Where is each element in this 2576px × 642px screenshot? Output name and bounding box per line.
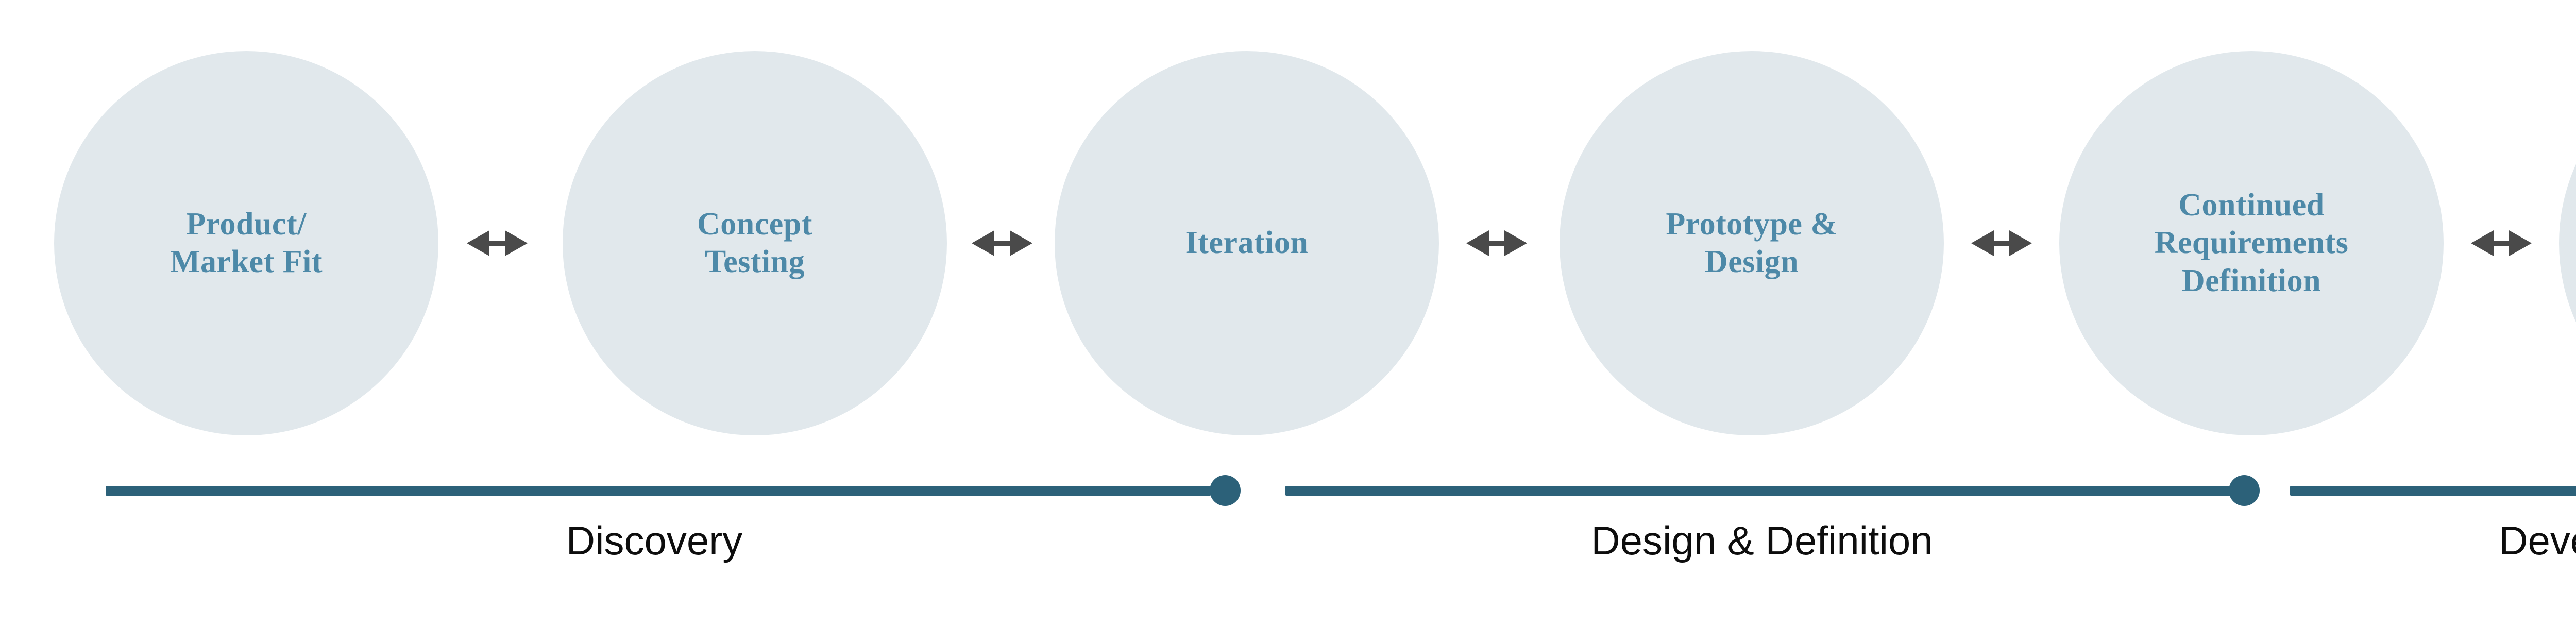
double-arrow-icon bbox=[2471, 223, 2532, 263]
double-arrow-icon bbox=[972, 223, 1032, 263]
process-diagram: Product/ Market Fit Concept Testing Iter… bbox=[0, 0, 2576, 642]
stage-circle-iteration[interactable]: Iteration bbox=[1055, 51, 1439, 435]
phase-endpoint-dot-icon bbox=[2229, 475, 2260, 506]
phase-bar-design-definition bbox=[1285, 486, 2231, 496]
phase-bar-development bbox=[2290, 486, 2576, 496]
stage-circle-continued-requirements-definition[interactable]: Continued Requirements Definition bbox=[2059, 51, 2444, 435]
stage-circle-concept-testing[interactable]: Concept Testing bbox=[563, 51, 947, 435]
double-arrow-icon bbox=[467, 223, 528, 263]
double-arrow-icon bbox=[1971, 223, 2032, 263]
phase-label-discovery: Discovery bbox=[566, 520, 742, 561]
stage-circle-prototype-design[interactable]: Prototype & Design bbox=[1560, 51, 1944, 435]
stage-label-iteration: Iteration bbox=[1165, 224, 1329, 262]
phase-bar-discovery bbox=[106, 486, 1211, 496]
double-arrow-icon bbox=[1466, 223, 1527, 263]
phase-endpoint-dot-icon bbox=[1210, 475, 1241, 506]
stage-label-continued-requirements-definition: Continued Requirements Definition bbox=[2134, 187, 2369, 299]
stage-circle-building-mvp[interactable]: Building MVP bbox=[2559, 51, 2576, 435]
stage-label-concept-testing: Concept Testing bbox=[676, 206, 833, 281]
stage-label-prototype-design: Prototype & Design bbox=[1645, 206, 1858, 281]
phase-label-design-definition: Design & Definition bbox=[1591, 520, 1933, 561]
phase-label-development: Development bbox=[2499, 520, 2576, 561]
stage-label-product-market-fit: Product/ Market Fit bbox=[149, 206, 343, 281]
stage-circle-product-market-fit[interactable]: Product/ Market Fit bbox=[54, 51, 438, 435]
